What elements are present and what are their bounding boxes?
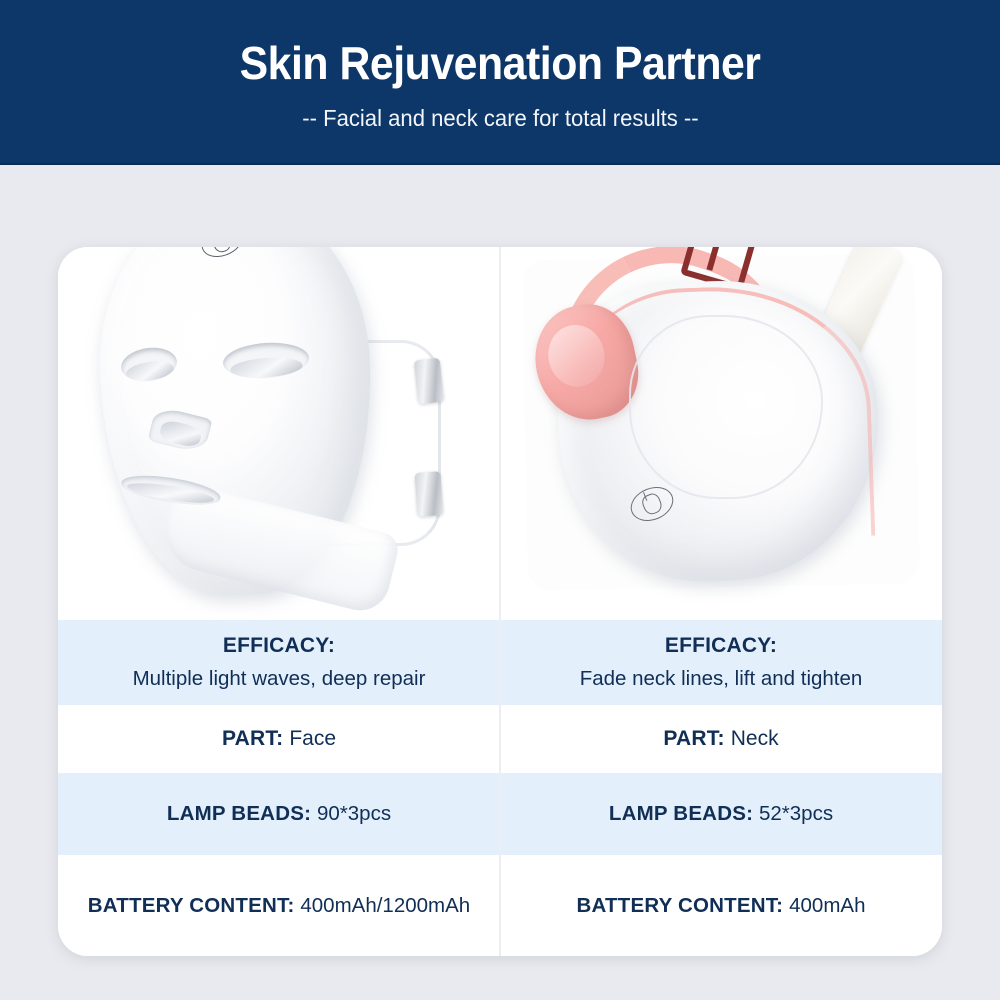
spec-row-lamp-beads: LAMP BEADS: 90*3pcs (58, 773, 500, 855)
spec-list-neck: EFFICACY: Fade neck lines, lift and tigh… (500, 620, 942, 956)
spec-value: Face (289, 727, 336, 750)
spec-label: PART: (663, 727, 730, 750)
spec-row-efficacy: EFFICACY: Fade neck lines, lift and tigh… (500, 620, 942, 705)
neck-device-contour-line (629, 315, 823, 499)
spec-value: 400mAh (789, 894, 865, 917)
spec-label: PART: (222, 727, 289, 750)
spec-value: Fade neck lines, lift and tighten (580, 664, 863, 694)
spec-row-battery: BATTERY CONTENT: 400mAh (500, 855, 942, 956)
product-image-neck-device (500, 247, 942, 620)
spec-label: LAMP BEADS: (609, 802, 759, 825)
page-title: Skin Rejuvenation Partner (240, 39, 761, 87)
product-column-face: EFFICACY: Multiple light waves, deep rep… (58, 247, 500, 956)
mask-strap-clip (414, 471, 443, 517)
spec-value: 52*3pcs (759, 802, 833, 825)
spec-row-efficacy: EFFICACY: Multiple light waves, deep rep… (58, 620, 500, 705)
spec-value: Neck (731, 727, 779, 750)
spec-row-part: PART: Neck (500, 705, 942, 773)
spec-label: EFFICACY: (223, 631, 335, 661)
spec-label: EFFICACY: (665, 631, 777, 661)
spec-value: 90*3pcs (317, 802, 391, 825)
spec-value: Multiple light waves, deep repair (133, 664, 426, 694)
product-comparison-card: EFFICACY: Multiple light waves, deep rep… (58, 247, 942, 956)
spec-value: 400mAh/1200mAh (300, 894, 470, 917)
face-mask-illustration (79, 247, 479, 620)
product-image-face-mask (58, 247, 500, 620)
column-divider (499, 247, 501, 956)
spec-label: LAMP BEADS: (167, 802, 317, 825)
page-header: Skin Rejuvenation Partner -- Facial and … (0, 0, 1000, 165)
spec-row-battery: BATTERY CONTENT: 400mAh/1200mAh (58, 855, 500, 956)
spec-row-part: PART: Face (58, 705, 500, 773)
spec-list-face: EFFICACY: Multiple light waves, deep rep… (58, 620, 500, 956)
product-column-neck: EFFICACY: Fade neck lines, lift and tigh… (500, 247, 942, 956)
neck-device-illustration (511, 247, 931, 625)
header-divider (0, 163, 1000, 165)
spec-label: BATTERY CONTENT: (577, 894, 790, 917)
spec-row-lamp-beads: LAMP BEADS: 52*3pcs (500, 773, 942, 855)
page-subtitle: -- Facial and neck care for total result… (302, 105, 698, 132)
spec-label: BATTERY CONTENT: (88, 894, 301, 917)
mask-strap-clip (414, 358, 444, 404)
